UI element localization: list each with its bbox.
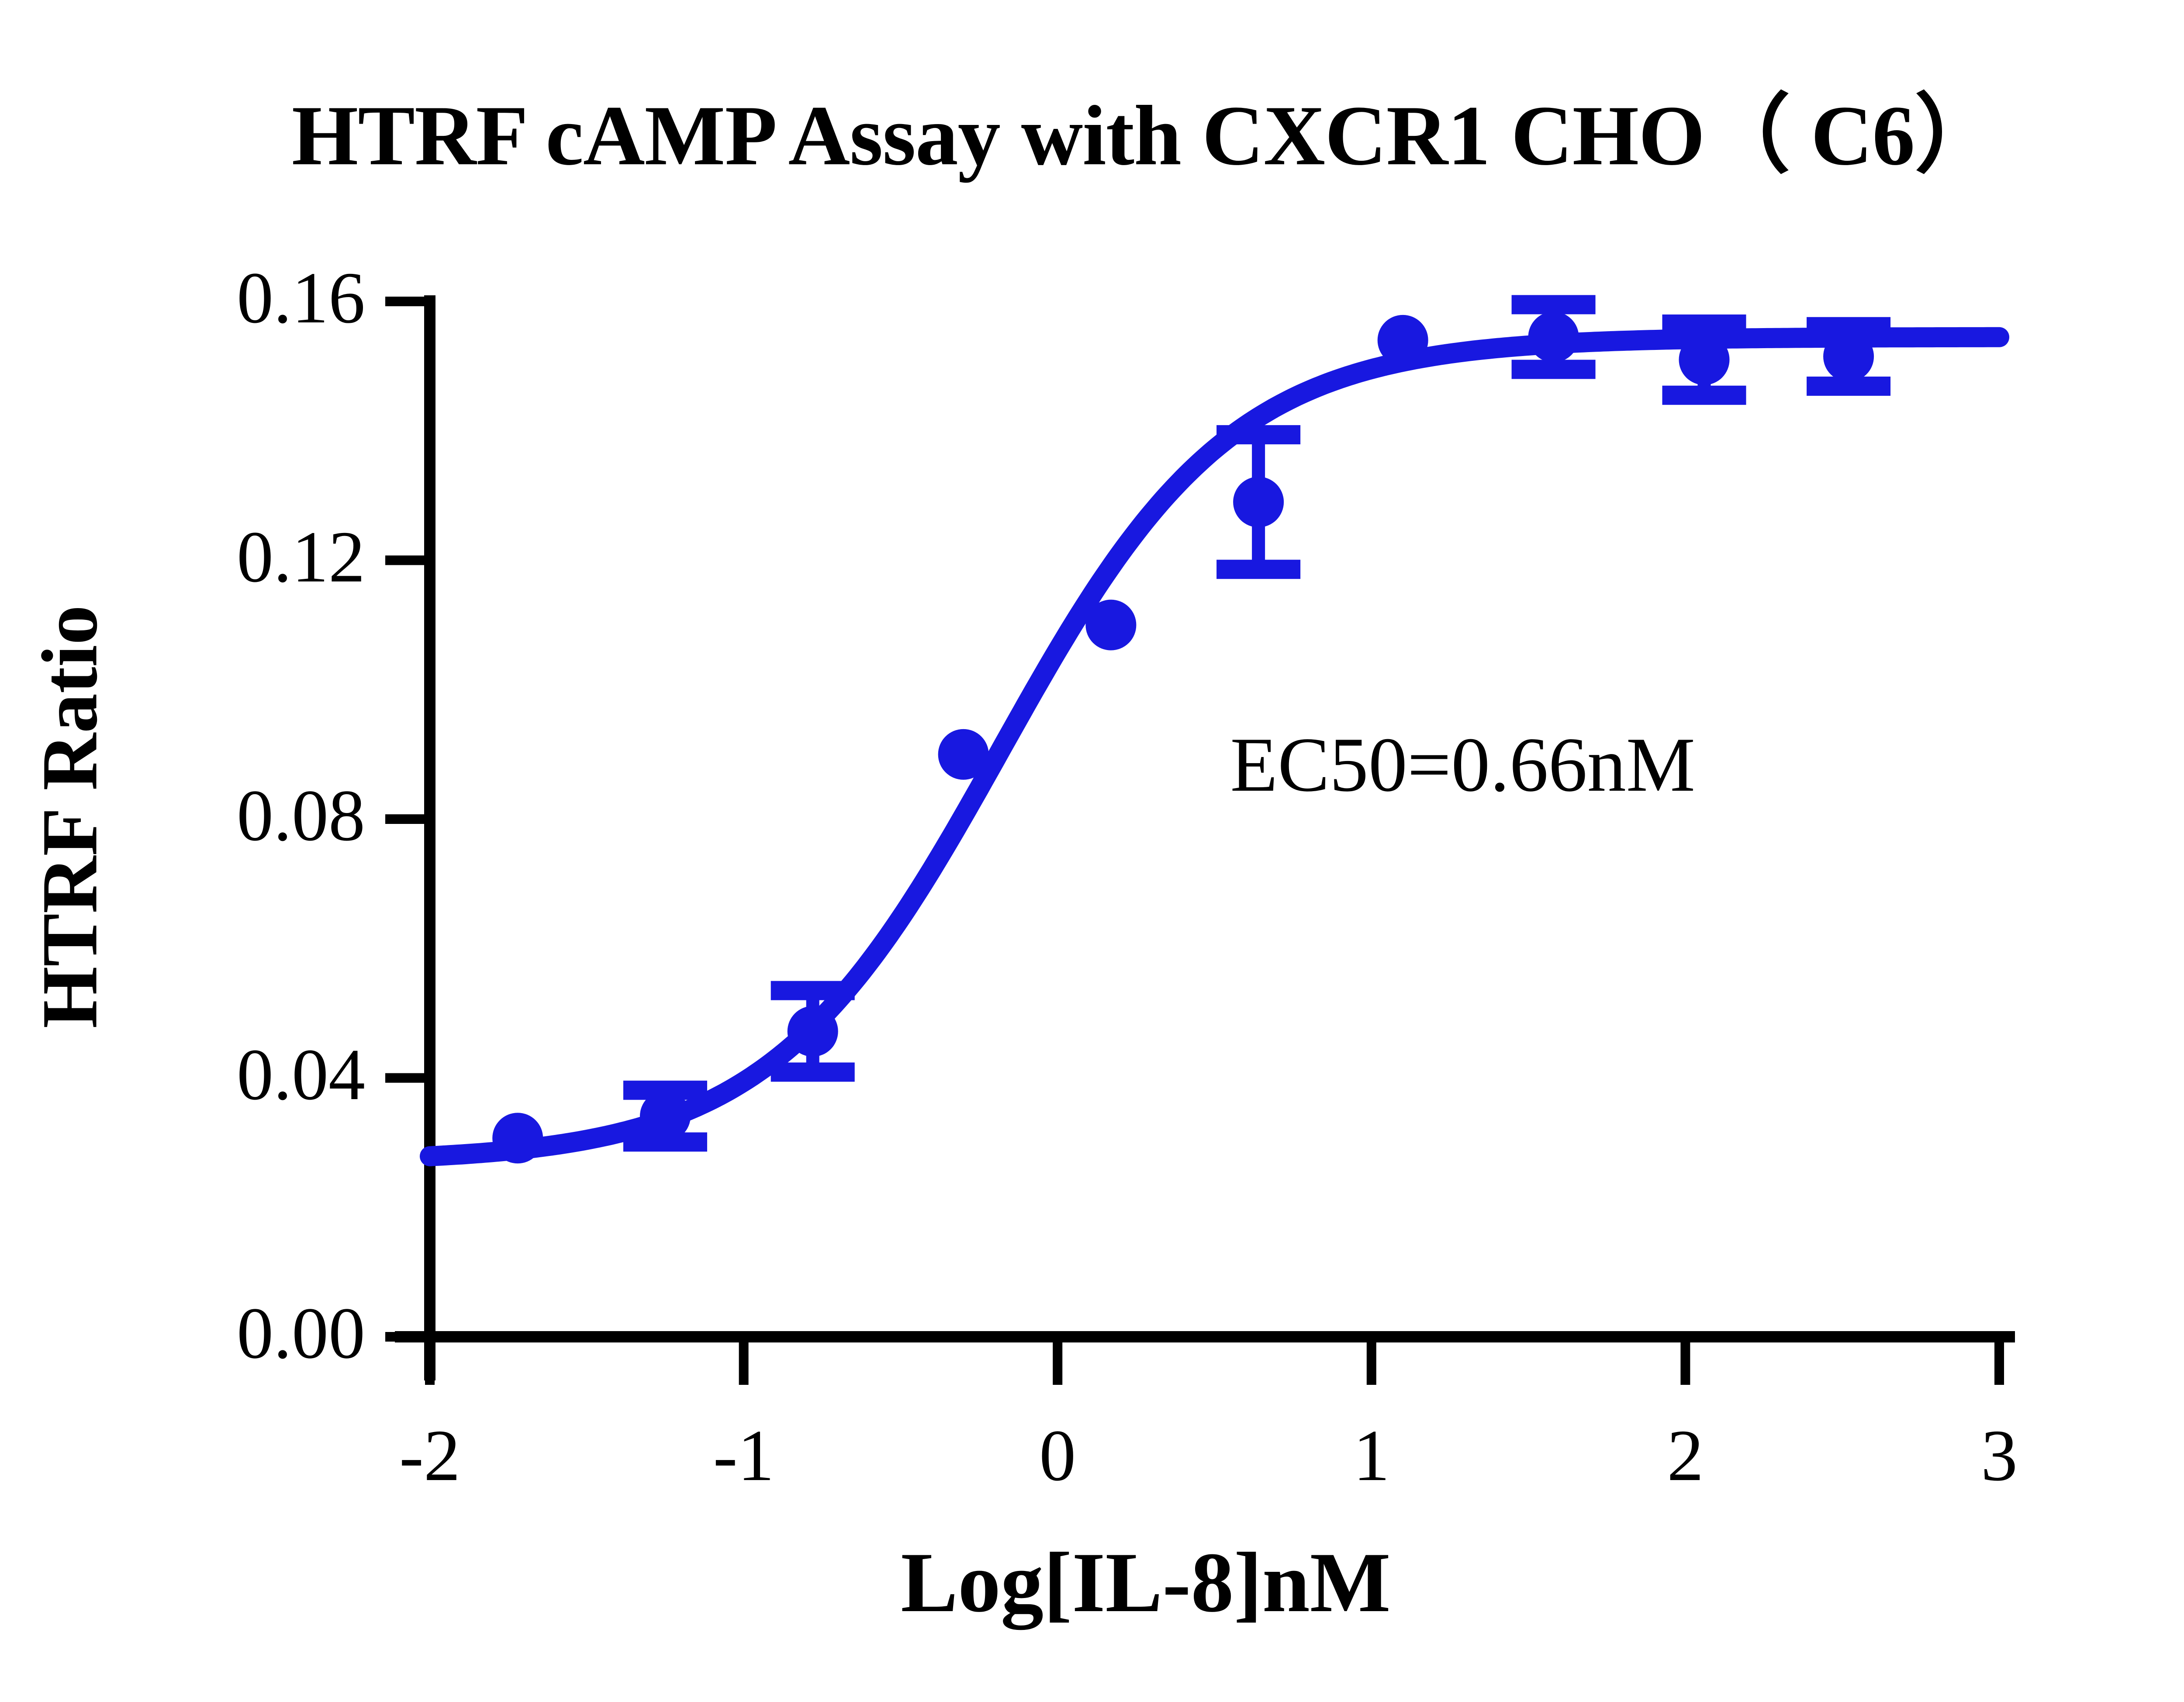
data-point-marker (1378, 315, 1428, 366)
data-point-marker (1528, 311, 1579, 362)
data-point-marker (1823, 331, 1874, 382)
x-tick-label: -1 (657, 1419, 831, 1492)
data-point-marker (1679, 334, 1730, 385)
y-tick-label: 0.04 (237, 1038, 365, 1111)
y-tick-label: 0.08 (237, 779, 365, 852)
x-tick-label: 3 (1912, 1419, 2087, 1492)
ec50-annotation: EC50=0.66nM (1230, 720, 1695, 809)
y-axis-title: HTRF Ratio (24, 467, 116, 1166)
y-tick-label: 0.16 (237, 261, 365, 335)
data-point-marker (640, 1091, 691, 1142)
data-point-marker (1085, 600, 1136, 650)
chart-figure: HTRF cAMP Assay with CXCR1 CHO（ C6） HTRF… (0, 0, 2184, 1702)
x-axis-title: Log[IL-8]nM (0, 1533, 2184, 1632)
data-point-marker (1233, 477, 1284, 527)
dose-response-curve (430, 337, 1999, 1156)
y-tick-label: 0.00 (237, 1297, 365, 1370)
x-tick-label: 2 (1598, 1419, 1773, 1492)
data-point-marker (492, 1113, 543, 1163)
x-tick-label: -2 (342, 1419, 517, 1492)
data-point-marker (788, 1006, 838, 1057)
data-point-marker (938, 729, 989, 780)
fit-curve (430, 337, 1999, 1156)
x-tick-label: 0 (970, 1419, 1145, 1492)
x-tick-label: 1 (1284, 1419, 1459, 1492)
y-tick-label: 0.12 (237, 520, 365, 594)
